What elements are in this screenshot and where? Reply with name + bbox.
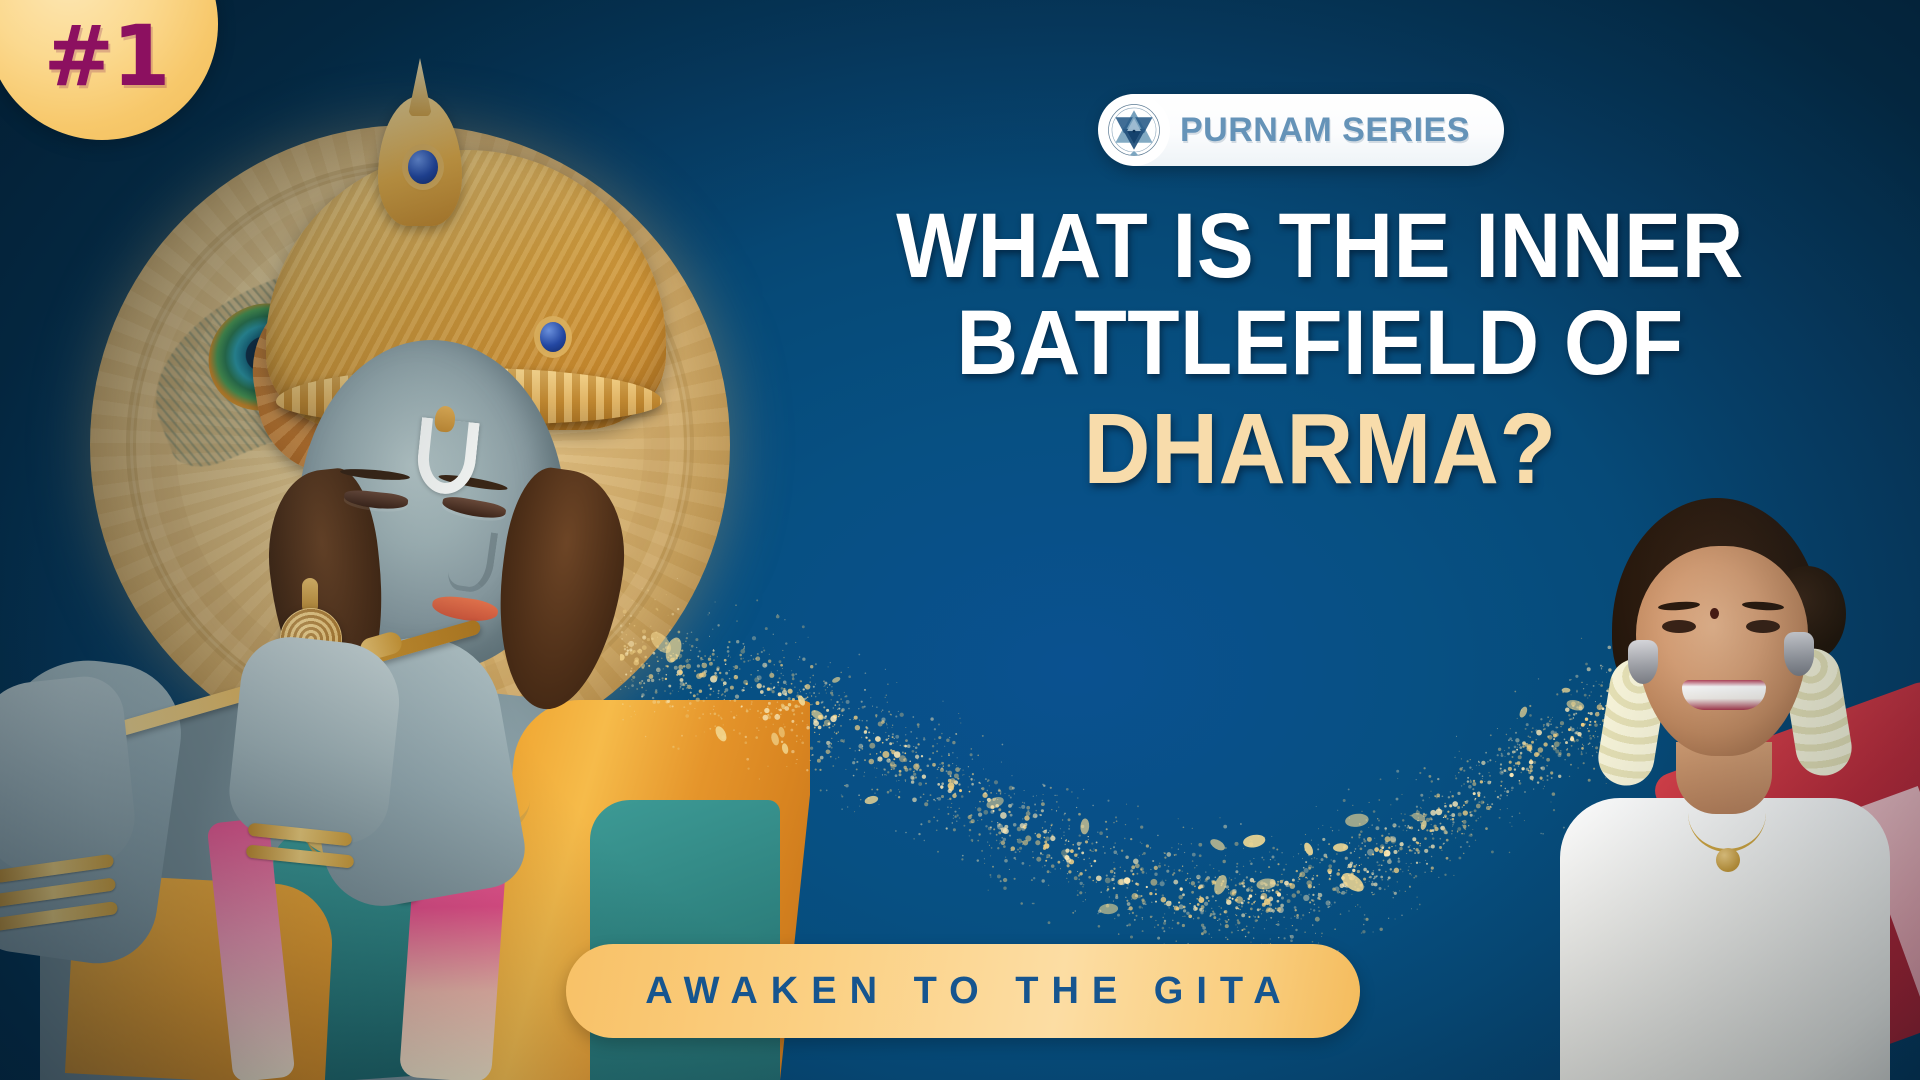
- episode-number-label: #1: [44, 14, 169, 98]
- page-title: WHAT IS THE INNER BATTLEFIELD OF DHARMA?: [820, 198, 1820, 502]
- crown-tip: [408, 58, 432, 116]
- sri-yantra-icon: [1102, 98, 1166, 162]
- deity-hand-left: [0, 673, 140, 878]
- cta-banner[interactable]: AWAKEN TO THE GITA: [566, 944, 1360, 1038]
- crown-jewel-top-icon: [408, 150, 438, 184]
- presenter-eye-right: [1746, 620, 1780, 633]
- crown-jewel-side-icon: [540, 322, 566, 352]
- cta-label: AWAKEN TO THE GITA: [632, 970, 1294, 1013]
- presenter-face: [1636, 546, 1808, 756]
- presenter-smile: [1682, 680, 1766, 710]
- presenter-eye-left: [1662, 620, 1696, 633]
- series-badge[interactable]: PURNAM SERIES: [1100, 94, 1504, 166]
- thumbnail-canvas: #1 PURNAM SERIES WHAT: [0, 0, 1920, 1080]
- presenter-portrait: [1500, 480, 1920, 1080]
- headline-line-1: WHAT IS THE INNER: [855, 198, 1785, 295]
- headline-line-2: BATTLEFIELD OF: [855, 295, 1785, 392]
- headline-line-3: DHARMA?: [855, 397, 1785, 502]
- silver-earring-right: [1784, 632, 1814, 676]
- silver-earring-left: [1628, 640, 1658, 684]
- chain-locket: [1716, 848, 1740, 872]
- bindi-icon: [1710, 608, 1719, 619]
- sri-yantra-svg: [1105, 101, 1163, 159]
- teal-garment: [590, 800, 780, 1080]
- series-badge-label: PURNAM SERIES: [1180, 111, 1470, 150]
- deity-hand-right: [225, 632, 405, 848]
- krishna-illustration: [0, 0, 810, 1080]
